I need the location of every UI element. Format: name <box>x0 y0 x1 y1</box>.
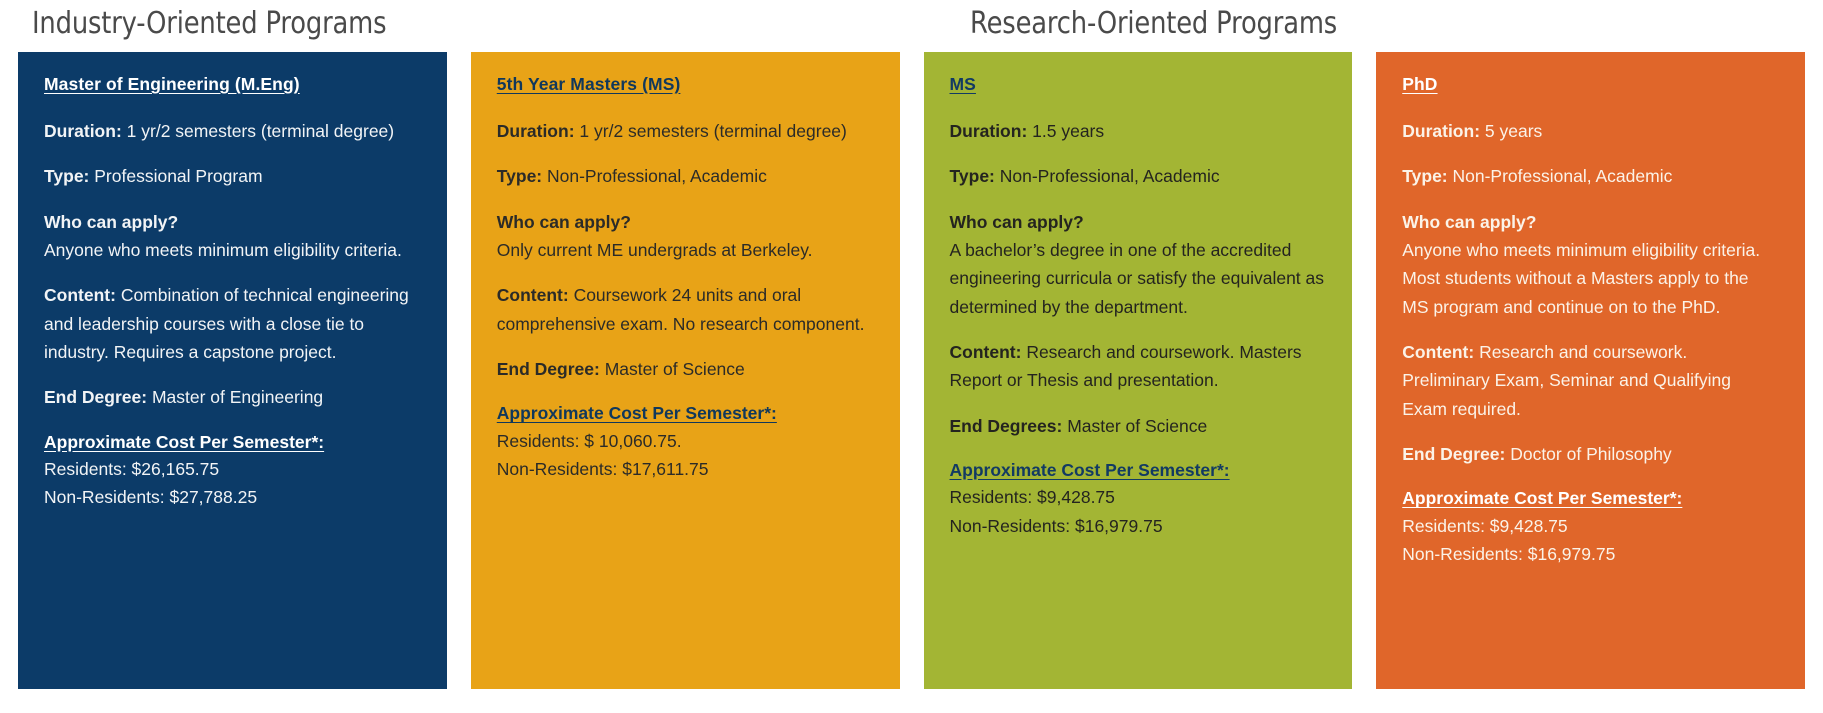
duration-label: Duration: <box>1402 121 1480 141</box>
program-title-link[interactable]: PhD <box>1402 74 1779 95</box>
content-label: Content: <box>497 285 569 305</box>
cost-nonresidents: Non-Residents: $16,979.75 <box>950 512 1327 540</box>
program-card-meng: Master of Engineering (M.Eng) Duration: … <box>18 52 447 689</box>
end-degree-label: End Degrees: <box>950 416 1063 436</box>
duration-label: Duration: <box>44 121 122 141</box>
who-value: A bachelor’s degree in one of the accred… <box>950 240 1325 317</box>
content-row: Content: Combination of technical engine… <box>44 281 421 366</box>
program-title-link[interactable]: MS <box>950 74 1327 95</box>
content-label: Content: <box>44 285 116 305</box>
end-degree-label: End Degree: <box>44 387 147 407</box>
end-degree-row: End Degrees: Master of Science <box>950 412 1327 440</box>
duration-label: Duration: <box>497 121 575 141</box>
end-degree-value: Master of Science <box>1067 416 1207 436</box>
who-value: Only current ME undergrads at Berkeley. <box>497 240 813 260</box>
duration-row: Duration: 1 yr/2 semesters (terminal deg… <box>44 117 421 145</box>
type-value: Non-Professional, Academic <box>1000 166 1220 186</box>
duration-value: 1.5 years <box>1032 121 1104 141</box>
who-label: Who can apply? <box>950 212 1084 232</box>
program-card-ms: MS Duration: 1.5 years Type: Non-Profess… <box>924 52 1353 689</box>
cost-link[interactable]: Approximate Cost Per Semester*: <box>44 429 421 455</box>
cost-link[interactable]: Approximate Cost Per Semester*: <box>1402 485 1779 511</box>
cost-link[interactable]: Approximate Cost Per Semester*: <box>950 457 1327 483</box>
type-value: Non-Professional, Academic <box>547 166 767 186</box>
type-value: Non-Professional, Academic <box>1453 166 1673 186</box>
duration-value: 5 years <box>1485 121 1542 141</box>
who-value: Anyone who meets minimum eligibility cri… <box>1402 240 1760 317</box>
end-degree-row: End Degree: Master of Engineering <box>44 383 421 411</box>
duration-row: Duration: 5 years <box>1402 117 1779 145</box>
type-label: Type: <box>950 166 995 186</box>
program-comparison-board: Industry-Oriented Programs Research-Orie… <box>0 0 1823 713</box>
type-label: Type: <box>497 166 542 186</box>
end-degree-row: End Degree: Doctor of Philosophy <box>1402 440 1779 468</box>
content-label: Content: <box>1402 342 1474 362</box>
content-row: Content: Coursework 24 units and oral co… <box>497 281 874 338</box>
who-row: Who can apply? Only current ME undergrad… <box>497 208 874 265</box>
content-row: Content: Research and coursework. Prelim… <box>1402 338 1779 423</box>
type-row: Type: Non-Professional, Academic <box>950 162 1327 190</box>
program-title-link[interactable]: 5th Year Masters (MS) <box>497 74 874 95</box>
cost-nonresidents: Non-Residents: $16,979.75 <box>1402 540 1779 568</box>
who-value: Anyone who meets minimum eligibility cri… <box>44 240 402 260</box>
end-degree-label: End Degree: <box>1402 444 1505 464</box>
program-card-phd: PhD Duration: 5 years Type: Non-Professi… <box>1376 52 1805 689</box>
duration-label: Duration: <box>950 121 1028 141</box>
who-row: Who can apply? Anyone who meets minimum … <box>1402 208 1779 321</box>
section-header-research: Research-Oriented Programs <box>970 6 1337 41</box>
end-degree-row: End Degree: Master of Science <box>497 355 874 383</box>
type-row: Type: Non-Professional, Academic <box>1402 162 1779 190</box>
end-degree-value: Doctor of Philosophy <box>1510 444 1671 464</box>
type-row: Type: Professional Program <box>44 162 421 190</box>
end-degree-label: End Degree: <box>497 359 600 379</box>
who-label: Who can apply? <box>44 212 178 232</box>
section-header-industry: Industry-Oriented Programs <box>32 6 386 41</box>
program-title-link[interactable]: Master of Engineering (M.Eng) <box>44 74 421 95</box>
type-row: Type: Non-Professional, Academic <box>497 162 874 190</box>
duration-value: 1 yr/2 semesters (terminal degree) <box>127 121 394 141</box>
cost-nonresidents: Non-Residents: $17,611.75 <box>497 455 874 483</box>
who-label: Who can apply? <box>1402 212 1536 232</box>
cost-link[interactable]: Approximate Cost Per Semester*: <box>497 400 874 426</box>
duration-row: Duration: 1.5 years <box>950 117 1327 145</box>
cost-residents: Residents: $ 10,060.75. <box>497 427 874 455</box>
who-row: Who can apply? A bachelor’s degree in on… <box>950 208 1327 321</box>
cost-residents: Residents: $26,165.75 <box>44 455 421 483</box>
cost-residents: Residents: $9,428.75 <box>950 483 1327 511</box>
type-label: Type: <box>1402 166 1447 186</box>
who-row: Who can apply? Anyone who meets minimum … <box>44 208 421 265</box>
type-value: Professional Program <box>94 166 262 186</box>
duration-value: 1 yr/2 semesters (terminal degree) <box>579 121 846 141</box>
cost-nonresidents: Non-Residents: $27,788.25 <box>44 483 421 511</box>
program-cards: Master of Engineering (M.Eng) Duration: … <box>18 52 1805 689</box>
program-card-5th-year-masters: 5th Year Masters (MS) Duration: 1 yr/2 s… <box>471 52 900 689</box>
cost-residents: Residents: $9,428.75 <box>1402 512 1779 540</box>
end-degree-value: Master of Engineering <box>152 387 323 407</box>
duration-row: Duration: 1 yr/2 semesters (terminal deg… <box>497 117 874 145</box>
section-headers: Industry-Oriented Programs Research-Orie… <box>18 0 1805 52</box>
content-label: Content: <box>950 342 1022 362</box>
content-row: Content: Research and coursework. Master… <box>950 338 1327 395</box>
who-label: Who can apply? <box>497 212 631 232</box>
end-degree-value: Master of Science <box>605 359 745 379</box>
type-label: Type: <box>44 166 89 186</box>
